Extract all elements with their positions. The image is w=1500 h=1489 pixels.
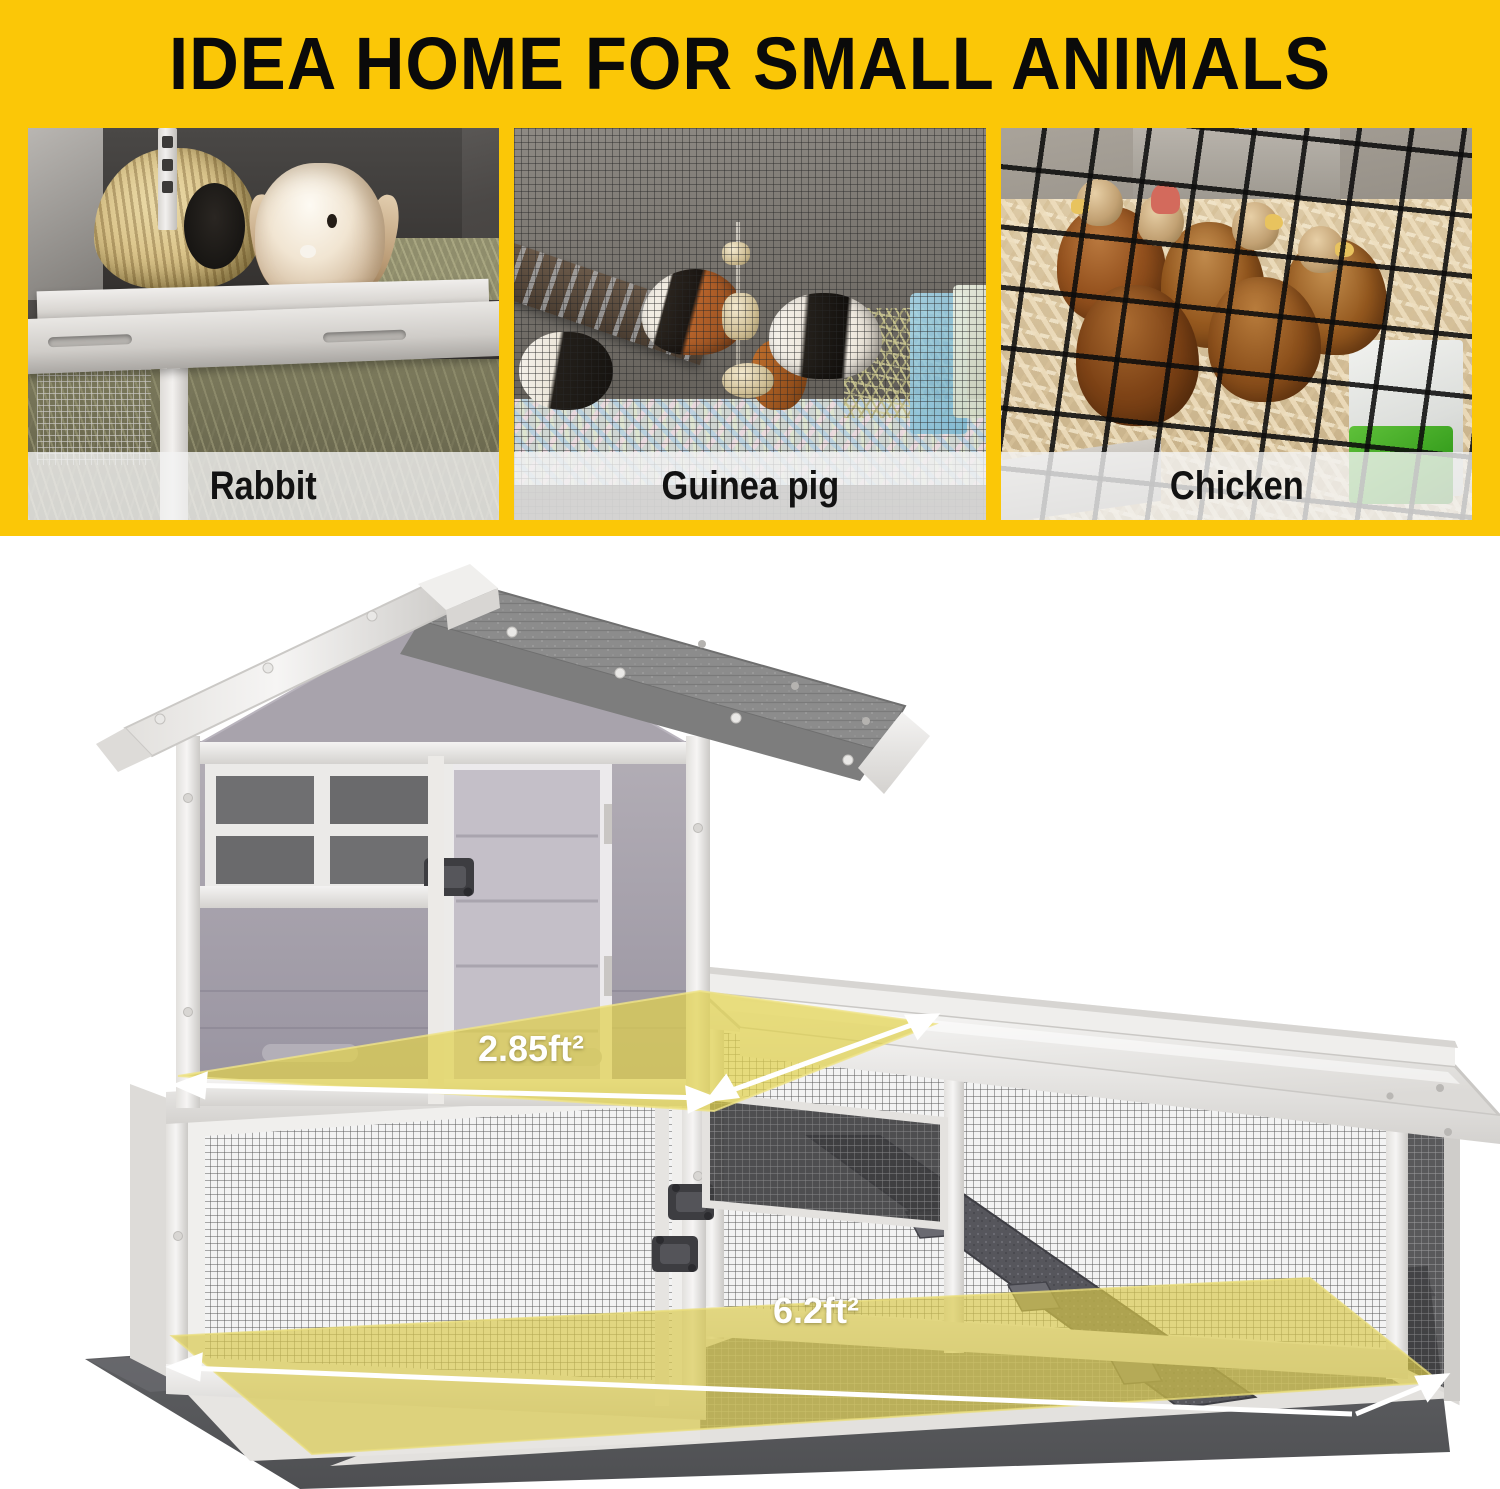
- dimension-label-upper: 2.85ft²: [478, 1028, 584, 1070]
- infographic-page: IDEA HOME FOR SMALL ANIMALS: [0, 0, 1500, 1489]
- photo-card-chicken: Chicken: [1001, 128, 1472, 520]
- photo-card-rabbit: Rabbit: [28, 128, 499, 520]
- rabbit-hutch-illustration: [0, 536, 1500, 1489]
- photo-label-bar-rabbit: Rabbit: [28, 452, 499, 520]
- yellow-banner: IDEA HOME FOR SMALL ANIMALS: [0, 0, 1500, 536]
- product-image-area: [0, 536, 1500, 1489]
- latch-lower-2: [652, 1236, 698, 1272]
- photo-label-bar-guinea-pig: Guinea pig: [514, 452, 985, 520]
- photo-label-bar-chicken: Chicken: [1001, 452, 1472, 520]
- animal-photo-strip: Rabbit: [28, 128, 1472, 520]
- photo-label-guinea-pig: Guinea pig: [661, 464, 839, 509]
- photo-label-rabbit: Rabbit: [210, 464, 317, 509]
- page-title: IDEA HOME FOR SMALL ANIMALS: [53, 24, 1448, 104]
- dimension-label-lower: 6.2ft²: [773, 1290, 859, 1332]
- photo-label-chicken: Chicken: [1169, 464, 1303, 509]
- photo-card-guinea-pig: Guinea pig: [514, 128, 985, 520]
- guinea-pig-icon: [519, 332, 613, 410]
